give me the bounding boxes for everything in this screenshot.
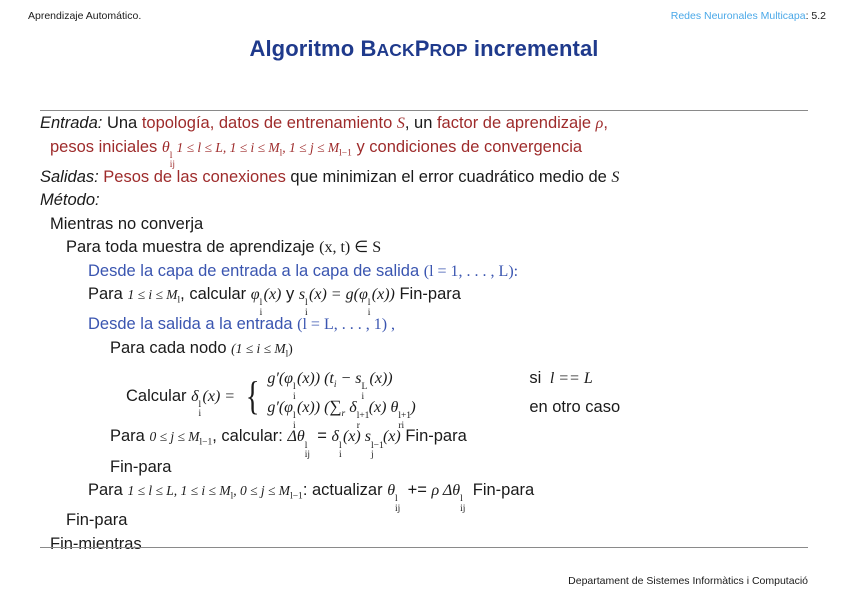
entrada-topologia: topología, datos de entrenamiento xyxy=(142,114,397,132)
line-fin-mientras: Fin-mientras xyxy=(40,533,822,557)
desde-entrada-math: (l = 1, . . . , L): xyxy=(424,263,518,280)
salidas-label: Salidas: xyxy=(40,168,99,186)
case1-cond-math: l == L xyxy=(550,370,593,387)
actualizar-r1: 1 ≤ l ≤ L, 1 ≤ i ≤ M xyxy=(127,483,230,498)
line-para-toda-muestra: Para toda muestra de aprendizaje (x, t) … xyxy=(40,236,822,260)
line-mientras: Mientras no converja xyxy=(40,213,822,237)
para-i-tail-math: (x)) xyxy=(372,286,395,303)
para-nodo-math-end: ) xyxy=(288,341,293,356)
para-j-mid: (x) xyxy=(343,428,365,445)
case1-mid: (x)) (t xyxy=(297,370,334,387)
para-nodo-math: (1 ≤ i ≤ M xyxy=(231,341,286,356)
desde-salida-text: Desde la salida a la entrada xyxy=(88,315,297,333)
pesos-ranges2: , 1 ≤ j ≤ M xyxy=(282,140,339,155)
actualizar-dtheta-sub: ij xyxy=(460,498,465,522)
line-para-i-calcular: Para 1 ≤ i ≤ Ml, calcular φli (x) y sli … xyxy=(40,283,822,313)
case1-gprime: g′( xyxy=(267,370,284,387)
para-i-sx: (x) = g( xyxy=(309,286,359,303)
cases-brace: { xyxy=(246,381,260,411)
slide-header: Aprendizaje Automático. Redes Neuronales… xyxy=(28,10,826,26)
case1-end: (x)) xyxy=(370,370,393,387)
para-i-phi2: φ xyxy=(359,286,368,303)
para-j-range-sub: l−1 xyxy=(200,438,213,448)
para-toda-math: (x, t) ∈ S xyxy=(319,239,381,256)
line-entrada: Entrada: Una topología, datos de entrena… xyxy=(40,112,822,136)
case2-delta-sub: r xyxy=(357,415,360,437)
line-actualizar: Para 1 ≤ l ≤ L, 1 ≤ i ≤ Ml, 0 ≤ j ≤ Ml−1… xyxy=(40,479,822,509)
pesos-ranges-sub2: l−1 xyxy=(339,148,352,158)
title-prefix: Algoritmo xyxy=(249,36,360,61)
salidas-S: S xyxy=(611,169,619,186)
case2-phi: φ xyxy=(284,399,293,416)
para-i-s-sub: i xyxy=(305,302,308,326)
pesos-ranges: 1 ≤ l ≤ L, 1 ≤ i ≤ M xyxy=(177,140,280,155)
salidas-red: Pesos de las conexiones xyxy=(99,168,286,186)
line-fin-para-inner: Fin-para xyxy=(40,456,822,480)
para-j-delta-sub: i xyxy=(339,444,342,468)
case2-cond: en otro caso xyxy=(529,398,620,416)
sigma-icon: ∑ xyxy=(329,397,341,416)
slide-footer: Departament de Sistemes Informàtics i Co… xyxy=(568,575,808,587)
actualizar-pre: Para xyxy=(88,481,127,499)
actualizar-dtheta: Δθ xyxy=(439,482,460,499)
para-j-calc: , calcular: xyxy=(212,427,287,445)
entrada-S: S xyxy=(397,115,405,132)
para-toda-text: Para toda muestra de aprendizaje xyxy=(66,238,319,256)
entrada-comma: , xyxy=(405,114,414,132)
para-nodo-text: Para cada nodo xyxy=(110,339,231,357)
line-fin-para-outer: Fin-para xyxy=(40,509,822,533)
case1-phi: φ xyxy=(284,370,293,387)
line-desde-entrada: Desde la capa de entrada a la capa de sa… xyxy=(40,260,822,284)
pesos-label: pesos iniciales xyxy=(50,138,162,156)
pesos-theta: θ xyxy=(162,139,170,156)
divider-bottom xyxy=(40,547,808,548)
calcular-deltax: (x) = xyxy=(203,388,236,405)
case2-mid: (x)) ( xyxy=(297,399,329,416)
desde-salida-math: (l = L, . . . , 1) , xyxy=(297,316,395,333)
para-i-phi-sub: i xyxy=(260,302,263,326)
line-metodo: Método: xyxy=(40,189,822,213)
para-i-phi: φ xyxy=(251,286,260,303)
calcular-delta-sub: i xyxy=(199,403,202,427)
case2-mid2: (x) xyxy=(369,399,391,416)
actualizar-mid: : actualizar xyxy=(303,481,387,499)
title-backprop-rop: ROP xyxy=(429,40,467,60)
para-j-delta: δ xyxy=(332,428,339,445)
course-name: Aprendizaje Automático. xyxy=(28,10,141,22)
actualizar-r2-sub: l−1 xyxy=(290,492,303,502)
title-backprop-b: B xyxy=(360,36,376,61)
section-name: Redes Neuronales Multicapa xyxy=(671,10,806,22)
fin-para-inner-text: Fin-para xyxy=(110,458,171,476)
case1-minus: − s xyxy=(337,370,362,387)
case-row-1: g′(φli (x)) (ti − sLi (x)) si l == L xyxy=(267,367,620,396)
pesos-theta-sub: ij xyxy=(170,154,175,178)
para-j-dtheta-sub: ij xyxy=(305,444,310,468)
para-i-calc: , calcular xyxy=(180,285,251,303)
case2-end: ) xyxy=(410,399,415,416)
metodo-label: Método: xyxy=(40,191,100,209)
entrada-una: Una xyxy=(102,114,141,132)
para-j-dtheta: Δθ xyxy=(287,428,304,445)
calcular-label: Calcular xyxy=(126,387,191,405)
para-j-range: 0 ≤ j ≤ M xyxy=(149,429,199,444)
para-j-s-sub: j xyxy=(371,444,374,468)
page-title: Algoritmo BACKPROP incremental xyxy=(0,36,848,62)
fin-mientras-text: Fin-mientras xyxy=(50,535,142,553)
case2-condition: en otro caso xyxy=(515,396,620,418)
cases-list: g′(φli (x)) (ti − sLi (x)) si l == L g′(… xyxy=(267,367,620,425)
entrada-un: un xyxy=(414,114,432,132)
case1-body: g′(φli (x)) (ti − sLi (x)) xyxy=(267,367,515,396)
entrada-rho-comma: , xyxy=(603,114,608,132)
case2-body: g′(φli (x)) (∑r δl+1r (x) θl+1ri ) xyxy=(267,396,515,425)
divider-top xyxy=(40,110,808,111)
para-j-pre: Para xyxy=(110,427,149,445)
line-desde-salida: Desde la salida a la entrada (l = L, . .… xyxy=(40,313,822,337)
case-row-2: g′(φli (x)) (∑r δl+1r (x) θl+1ri ) en ot… xyxy=(267,396,620,425)
actualizar-theta: θ xyxy=(387,482,395,499)
section-indicator: Redes Neuronales Multicapa: 5.2 xyxy=(671,10,826,22)
para-i-phi2-sub: i xyxy=(368,302,371,326)
para-j-eq: = xyxy=(313,427,332,445)
case2-delta: δ xyxy=(349,399,356,416)
para-j-fin: Fin-para xyxy=(401,427,467,445)
title-backprop-ack: ACK xyxy=(376,40,414,60)
case1-condition: si l == L xyxy=(515,367,592,390)
actualizar-theta-sub: ij xyxy=(395,498,400,522)
case2-gprime: g′( xyxy=(267,399,284,416)
actualizar-plus: += xyxy=(403,481,431,499)
line-calcular-delta: Calcular δli (x) = { g′(φli (x)) (ti − s… xyxy=(40,367,822,425)
actualizar-r2: , 0 ≤ j ≤ M xyxy=(233,483,290,498)
salidas-black: que minimizan el error cuadrático medio … xyxy=(286,168,612,186)
line-pesos-iniciales: pesos iniciales θlij 1 ≤ l ≤ L, 1 ≤ i ≤ … xyxy=(40,136,822,166)
para-i-fin: Fin-para xyxy=(395,285,461,303)
title-suffix: incremental xyxy=(468,36,599,61)
line-salidas: Salidas: Pesos de las conexiones que min… xyxy=(40,166,822,190)
para-i-phix: (x) xyxy=(264,286,282,303)
case1-cond-si: si xyxy=(529,369,546,387)
para-i-y: y xyxy=(281,285,298,303)
entrada-label: Entrada: xyxy=(40,114,102,132)
calcular-delta: δ xyxy=(191,388,198,405)
line-para-j-calcular: Para 0 ≤ j ≤ Ml−1, calcular: Δθlij = δli… xyxy=(40,425,822,455)
para-i-range: 1 ≤ i ≤ M xyxy=(127,287,177,302)
pesos-tail: y condiciones de convergencia xyxy=(352,138,582,156)
para-i-pre: Para xyxy=(88,285,127,303)
algorithm-block: Entrada: Una topología, datos de entrena… xyxy=(40,112,822,556)
case2-theta-sub: ri xyxy=(398,415,404,437)
line-para-cada-nodo: Para cada nodo (1 ≤ i ≤ Ml) xyxy=(40,337,822,367)
slide: Aprendizaje Automático. Redes Neuronales… xyxy=(0,0,848,599)
desde-entrada-text: Desde la capa de entrada a la capa de sa… xyxy=(88,262,424,280)
slide-number: : 5.2 xyxy=(806,10,826,22)
title-backprop-p: P xyxy=(415,36,430,61)
mientras-text: Mientras no converja xyxy=(50,215,203,233)
case2-phi-sub: i xyxy=(293,415,296,437)
actualizar-fin: Fin-para xyxy=(468,481,534,499)
fin-para-outer-text: Fin-para xyxy=(66,511,127,529)
entrada-factor: factor de aprendizaje xyxy=(432,114,595,132)
